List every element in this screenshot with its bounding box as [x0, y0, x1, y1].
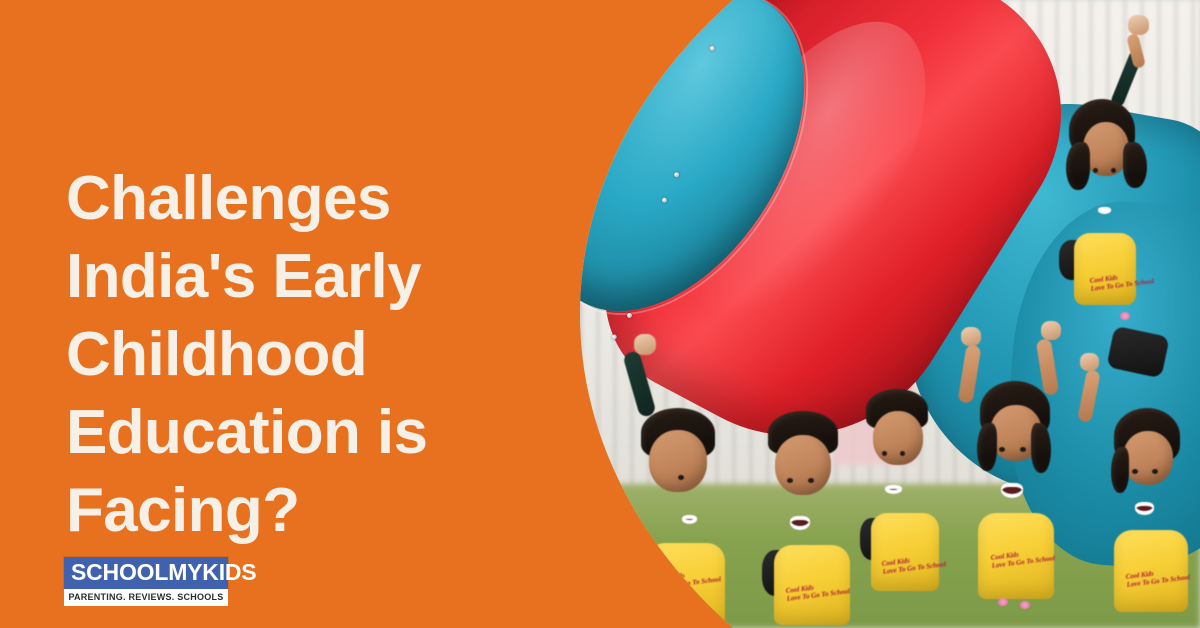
child-head: [1123, 431, 1173, 485]
child-hair-side: [1123, 142, 1147, 188]
child-tshirt: [1074, 233, 1136, 305]
child-fist: [1041, 321, 1061, 340]
tshirt-flower-print: [1020, 601, 1030, 609]
child-tshirt: [871, 513, 939, 591]
child-mouth: [1001, 483, 1023, 498]
child-head: [775, 435, 831, 495]
child-mouth: [1098, 207, 1111, 214]
slide-bolt: [710, 46, 715, 51]
child-head: [649, 430, 707, 492]
tshirt-flower-print: [658, 614, 668, 622]
tshirt-flower-print: [682, 617, 692, 625]
child-mouth: [790, 516, 810, 530]
child-head: [873, 411, 923, 465]
page-title: Challenges India's Early Childhood Educa…: [66, 160, 536, 550]
child-eye: [1152, 469, 1158, 474]
social-share-banner: Surveillance ents and sory ttee: [0, 0, 1200, 628]
child-mouth: [682, 515, 697, 524]
child-mouth: [885, 485, 902, 494]
tshirt-flower-print: [998, 598, 1008, 606]
hero-photo-panel: Surveillance ents and sory ttee: [580, 0, 1200, 628]
child-mouth: [1135, 502, 1154, 515]
child-hair-side: [1111, 447, 1129, 493]
child-boy-left: Cool Kids Love To Go To School: [599, 345, 760, 628]
child-hair-side: [977, 423, 997, 471]
child-fist: [1080, 353, 1099, 371]
playground-photo: Surveillance ents and sory ttee: [580, 0, 1200, 628]
child-girl-right: Cool Kids Love To Go To School: [1070, 364, 1200, 628]
logo-brand-banner: SCHOOLMYKIDS: [64, 557, 228, 589]
child-fist: [961, 327, 981, 346]
tshirt-flower-print: [1120, 312, 1130, 320]
child-fist: [1128, 15, 1149, 35]
child-arm: [1077, 369, 1101, 423]
child-arm: [958, 344, 982, 404]
logo-tagline-bar: PARENTING. REVIEWS. SCHOOLS: [64, 589, 228, 606]
child-tshirt: [647, 543, 725, 628]
child-fist: [634, 334, 656, 355]
child-sleeve: [634, 549, 668, 597]
schoolmykids-logo[interactable]: SCHOOLMYKIDS PARENTING. REVIEWS. SCHOOLS: [64, 557, 228, 606]
child-arm: [622, 350, 657, 418]
logo-tagline-text: PARENTING. REVIEWS. SCHOOLS: [68, 592, 224, 602]
child-eye: [1093, 168, 1098, 173]
child-arm: [1035, 338, 1059, 396]
child-girl-on-slide: Cool Kids Love To Go To School: [1033, 44, 1200, 371]
slide-bolt: [689, 15, 694, 20]
child-hair-side: [1066, 142, 1090, 190]
child-hair-side: [1031, 423, 1051, 473]
logo-brand-text: SCHOOLMYKIDS: [71, 561, 221, 584]
